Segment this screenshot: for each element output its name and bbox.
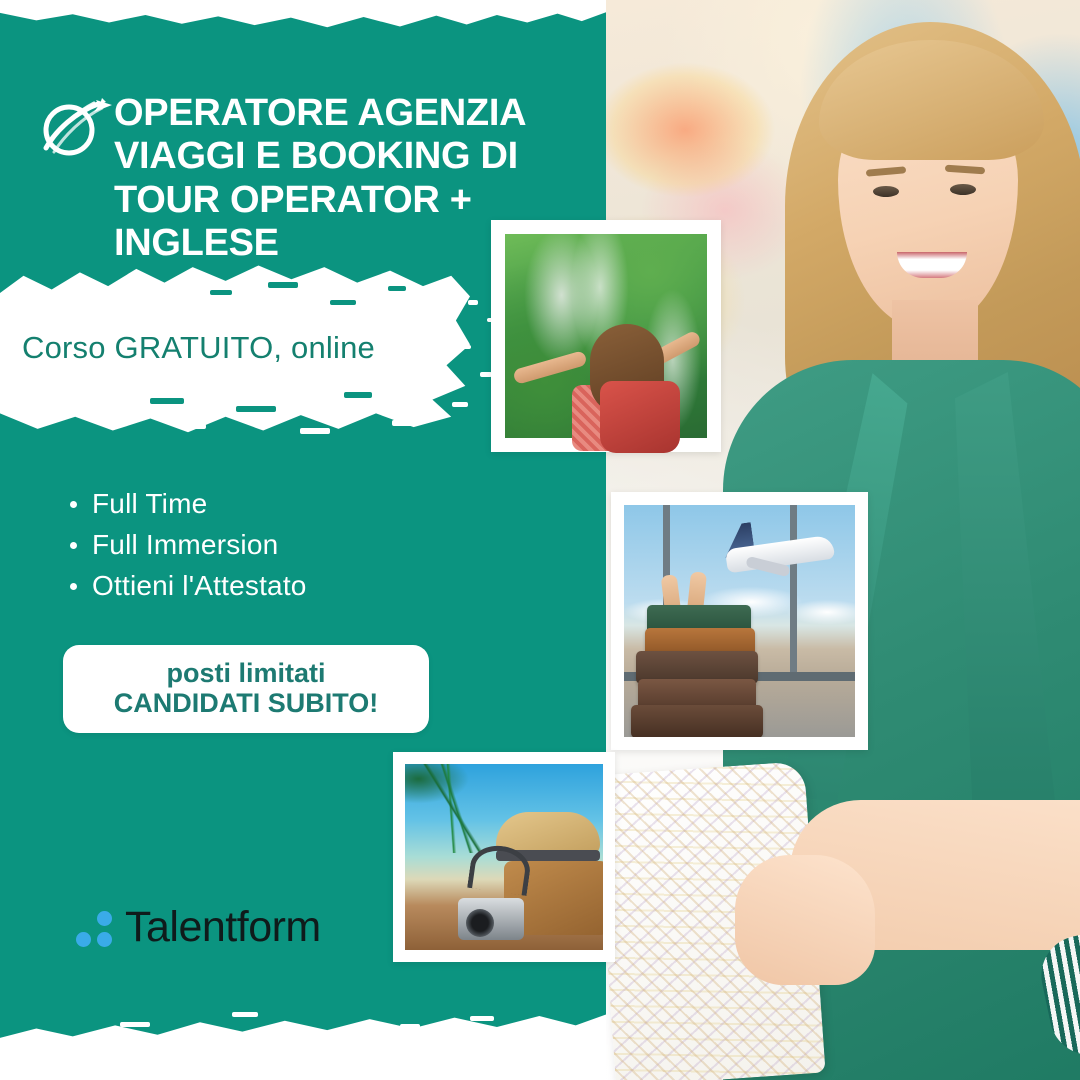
- beach-travel-photo: [393, 752, 615, 962]
- apply-now-cta[interactable]: posti limitati CANDIDATI SUBITO!: [63, 645, 429, 733]
- logo-dot-bottom-right: [97, 932, 112, 947]
- brush-gap: [150, 398, 184, 404]
- brush-gap: [388, 286, 406, 291]
- window-mullion: [790, 505, 797, 672]
- brush-gap: [344, 392, 372, 398]
- logo-dot-bottom-left: [76, 932, 91, 947]
- cta-apply-label: CANDIDATI SUBITO!: [114, 688, 379, 720]
- brush-speck: [392, 420, 414, 426]
- top-brush-stroke: [0, 0, 606, 34]
- beach-photo-image: [405, 764, 603, 950]
- promo-poster: OPERATORE AGENZIA VIAGGI E BOOKING DI TO…: [0, 0, 1080, 1080]
- airport-photo-image: [624, 505, 855, 737]
- course-subtitle: Corso GRATUITO, online: [22, 330, 375, 366]
- cta-limited-seats-label: posti limitati: [166, 658, 325, 688]
- brush-gap: [268, 282, 298, 288]
- waterfall-traveler-photo: [491, 220, 721, 452]
- brush-speck: [120, 1022, 150, 1027]
- waterfall-photo-image: [505, 234, 707, 438]
- suitcase: [631, 705, 763, 737]
- brush-gap: [330, 300, 356, 305]
- list-item: Full Immersion: [66, 524, 307, 565]
- model-eye-left: [873, 186, 899, 197]
- brush-speck: [452, 402, 468, 407]
- model-hand: [735, 855, 875, 985]
- brush-speck: [470, 1016, 494, 1021]
- brush-speck: [520, 1028, 538, 1033]
- three-dots-icon: [75, 908, 115, 948]
- brush-speck: [232, 1012, 258, 1017]
- brush-speck: [468, 300, 478, 305]
- model-eye-right: [950, 184, 976, 195]
- brush-speck: [180, 424, 206, 429]
- airport-luggage-photo: [611, 492, 868, 750]
- bottom-brush-stroke: [0, 1002, 606, 1080]
- page-title: OPERATORE AGENZIA VIAGGI E BOOKING DI TO…: [114, 92, 526, 265]
- brush-speck: [463, 345, 471, 349]
- brush-speck: [400, 1024, 420, 1029]
- red-backpack: [600, 381, 680, 453]
- brush-gap: [210, 290, 232, 295]
- traveler-arm-left: [512, 351, 587, 386]
- list-item: Ottieni l'Attestato: [66, 565, 307, 606]
- brand-wordmark: Talentform: [125, 903, 321, 952]
- logo-dot-top: [97, 911, 112, 926]
- brush-speck: [300, 428, 330, 434]
- talentform-logo[interactable]: Talentform: [75, 903, 321, 952]
- brush-gap: [236, 406, 276, 412]
- feature-list: Full Time Full Immersion Ottieni l'Attes…: [66, 483, 307, 606]
- list-item: Full Time: [66, 483, 307, 524]
- globe-airplane-icon: [36, 96, 114, 163]
